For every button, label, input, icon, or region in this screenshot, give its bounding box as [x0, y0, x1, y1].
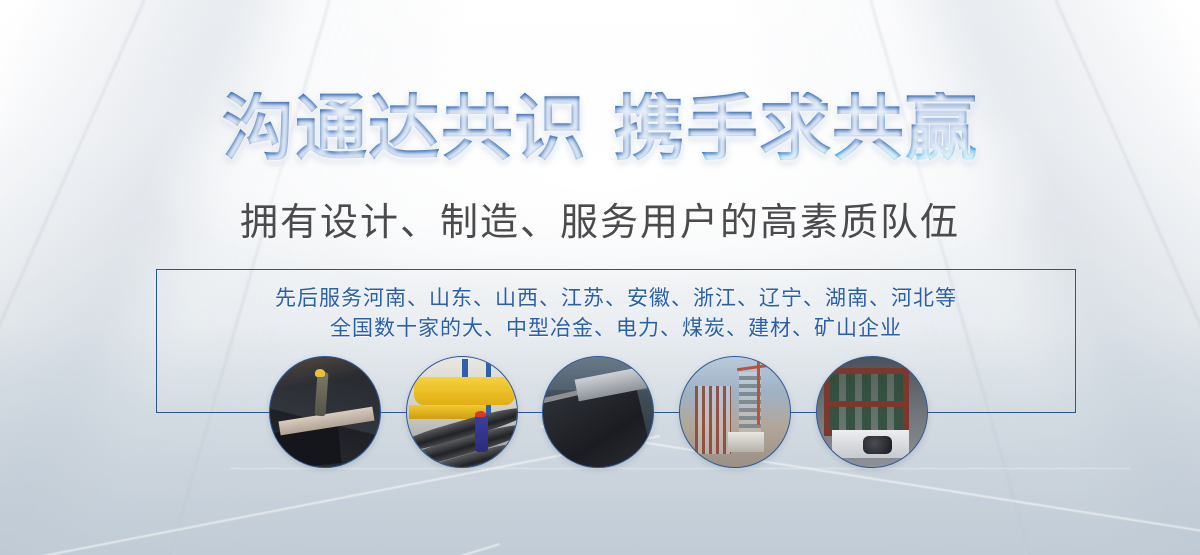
yellow-tank-pipeline-image: [407, 357, 517, 467]
photo-circle-steel-box-structure[interactable]: [542, 356, 654, 468]
site-building-shape: [728, 432, 763, 452]
photo-circle-workshop-equipment[interactable]: [816, 356, 928, 468]
info-line-2: 全国数十家的大、中型冶金、电力、煤炭、建材、矿山企业: [156, 313, 1076, 343]
plant-construction-site-image: [680, 357, 790, 467]
info-line-1: 先后服务河南、山东、山西、江苏、安徽、浙江、辽宁、湖南、河北等: [275, 286, 957, 310]
motor-unit-shape: [863, 436, 892, 454]
worker-figure: [315, 372, 329, 417]
yellow-tank-shape: [414, 377, 515, 406]
steel-plate-installation-image: [270, 357, 380, 467]
hard-hat-shape: [475, 411, 486, 418]
banner-headline: 沟通达共识携手求共赢: [0, 92, 1200, 164]
rack-rail-shape: [824, 401, 910, 407]
workshop-equipment-image: [817, 357, 927, 467]
hard-hat-shape: [315, 369, 325, 377]
headline-part-2: 携手求共赢: [613, 86, 978, 170]
photo-circle-plant-construction-site[interactable]: [679, 356, 791, 468]
banner-content: 沟通达共识携手求共赢 拥有设计、制造、服务用户的高素质队伍 先后服务河南、山东、…: [0, 0, 1200, 555]
worker-figure: [475, 414, 488, 451]
headline-part-1: 沟通达共识: [222, 86, 587, 170]
photo-circle-yellow-tank-pipeline[interactable]: [406, 356, 518, 468]
photo-circle-steel-plate-installation[interactable]: [269, 356, 381, 468]
banner-subheadline: 拥有设计、制造、服务用户的高素质队伍: [0, 200, 1200, 246]
crane-mast-shape: [757, 359, 760, 425]
promotional-banner: 沟通达共识携手求共赢 拥有设计、制造、服务用户的高素质队伍 先后服务河南、山东、…: [0, 0, 1200, 555]
steel-box-structure-image: [543, 357, 653, 467]
info-box-text: 先后服务河南、山东、山西、江苏、安徽、浙江、辽宁、湖南、河北等 全国数十家的大、…: [156, 283, 1076, 343]
crane-jib-shape: [737, 364, 770, 372]
steel-tower-shape: [695, 386, 730, 454]
